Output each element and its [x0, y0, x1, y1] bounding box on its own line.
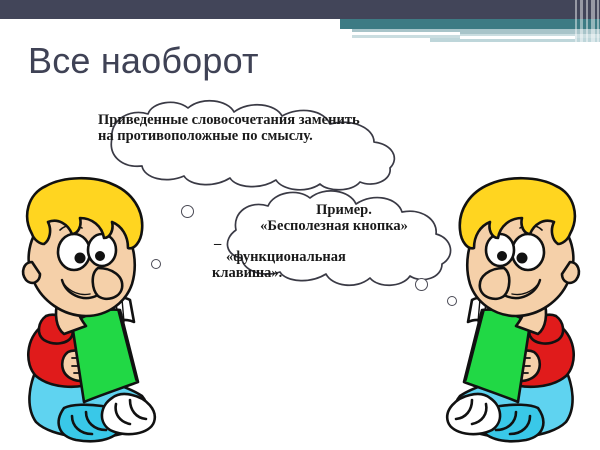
- example-line-2: «Бесполезная кнопка»: [212, 218, 450, 234]
- slide-canvas: Все наоборот Приведенные словосочетания …: [0, 0, 600, 450]
- header-navy-bar: [0, 0, 600, 19]
- header-white-notch-1: [352, 32, 460, 35]
- header-vertical-stripe-4: [591, 0, 595, 42]
- header-vertical-stripe-1: [575, 0, 577, 42]
- thought-dot-large-left: [181, 205, 194, 218]
- boy-reading-left: [2, 176, 178, 448]
- example-line-3: «функциональная: [212, 249, 450, 265]
- header-teal-bar: [340, 19, 600, 29]
- example-line-4: клавиша».: [212, 265, 450, 281]
- header-vertical-stripe-2: [580, 0, 583, 42]
- header-white-notch-2: [460, 36, 575, 39]
- example-bubble-text: Пример. «Бесполезная кнопка» – «функцион…: [212, 202, 450, 281]
- example-line-1: Пример.: [212, 202, 450, 218]
- header-vertical-stripe-5: [597, 0, 599, 42]
- header-vertical-stripe-3: [586, 0, 588, 42]
- page-title: Все наоборот: [28, 40, 259, 82]
- instruction-bubble-text: Приведенные словосочетания заменить на п…: [98, 112, 366, 144]
- boy-reading-right: [424, 176, 600, 448]
